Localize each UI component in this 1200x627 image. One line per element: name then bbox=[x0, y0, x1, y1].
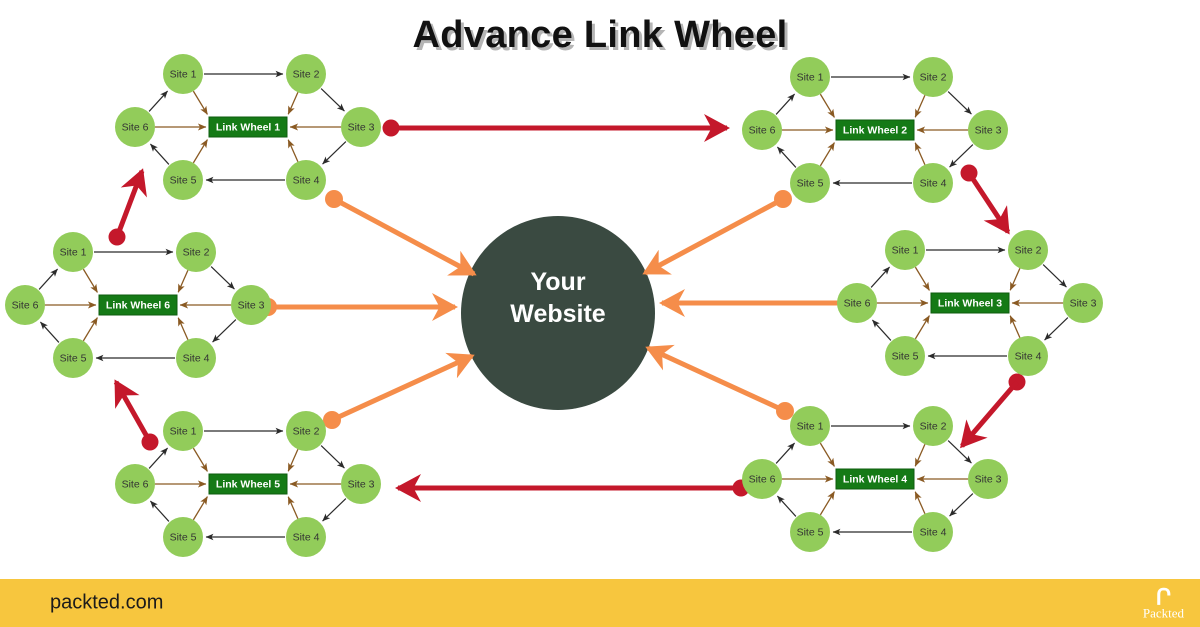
wheel-4-hub-box[interactable]: Link Wheel 4 bbox=[836, 469, 914, 489]
site-node-4[interactable]: Site 4 bbox=[913, 163, 953, 203]
spoke-edge bbox=[193, 497, 207, 520]
arrow-wheel3-to-wheel4 bbox=[962, 374, 1026, 447]
site-node-label: Site 1 bbox=[892, 245, 919, 257]
wheel-2-hub-box[interactable]: Link Wheel 2 bbox=[836, 120, 914, 140]
ring-edge bbox=[321, 446, 344, 468]
site-node-3[interactable]: Site 3 bbox=[1063, 283, 1103, 323]
spoke-edge bbox=[1010, 316, 1020, 338]
hub-box-label: Link Wheel 1 bbox=[216, 122, 280, 134]
site-node-label: Site 1 bbox=[797, 421, 824, 433]
arrow-wheel3-to-center bbox=[662, 294, 858, 312]
site-node-label: Site 4 bbox=[1015, 351, 1042, 363]
site-node-5[interactable]: Site 5 bbox=[885, 336, 925, 376]
site-node-6[interactable]: Site 6 bbox=[5, 285, 45, 325]
site-node-label: Site 2 bbox=[183, 247, 210, 259]
site-node-label: Site 5 bbox=[797, 178, 824, 190]
site-node-4[interactable]: Site 4 bbox=[913, 512, 953, 552]
spoke-edge bbox=[193, 448, 207, 471]
spoke-edge bbox=[193, 91, 207, 114]
site-node-label: Site 4 bbox=[920, 178, 947, 190]
site-node-6[interactable]: Site 6 bbox=[742, 459, 782, 499]
ring-edge bbox=[40, 322, 58, 342]
wheel-3-hub-box[interactable]: Link Wheel 3 bbox=[931, 293, 1009, 313]
ring-edge bbox=[872, 320, 890, 340]
site-node-label: Site 5 bbox=[170, 175, 197, 187]
hub-box-label: Link Wheel 2 bbox=[843, 125, 907, 137]
ring-edge bbox=[213, 320, 236, 342]
spoke-edge bbox=[193, 140, 207, 163]
site-node-label: Site 6 bbox=[12, 300, 39, 312]
arrow-wheel4-to-center bbox=[648, 348, 794, 420]
ring-edge bbox=[211, 267, 234, 289]
site-node-label: Site 6 bbox=[749, 474, 776, 486]
wheel-1[interactable]: Site 1Site 2Site 3Site 4Site 5Site 6Link… bbox=[115, 54, 381, 200]
site-node-label: Site 4 bbox=[293, 532, 320, 544]
site-node-2[interactable]: Site 2 bbox=[913, 57, 953, 97]
spoke-edge bbox=[83, 318, 97, 341]
site-node-4[interactable]: Site 4 bbox=[176, 338, 216, 378]
hub-box-label: Link Wheel 3 bbox=[938, 298, 1002, 310]
spoke-edge bbox=[915, 316, 929, 339]
site-node-2[interactable]: Site 2 bbox=[176, 232, 216, 272]
site-node-label: Site 1 bbox=[797, 72, 824, 84]
site-node-label: Site 3 bbox=[348, 122, 375, 134]
wheel-6-hub-box[interactable]: Link Wheel 6 bbox=[99, 295, 177, 315]
site-node-3[interactable]: Site 3 bbox=[341, 464, 381, 504]
site-node-label: Site 2 bbox=[293, 426, 320, 438]
wheel-6[interactable]: Site 1Site 2Site 3Site 4Site 5Site 6Link… bbox=[5, 232, 271, 378]
site-node-2[interactable]: Site 2 bbox=[1008, 230, 1048, 270]
arrow-wheel4-to-wheel5 bbox=[398, 480, 750, 497]
hub-box-label: Link Wheel 4 bbox=[843, 474, 907, 486]
spoke-edge bbox=[915, 143, 925, 165]
ring-edge bbox=[948, 92, 971, 114]
site-node-label: Site 2 bbox=[1015, 245, 1042, 257]
arrow-wheel1-to-wheel2 bbox=[383, 120, 728, 137]
site-node-label: Site 3 bbox=[348, 479, 375, 491]
footer-bar: packted.com Ր Packted bbox=[0, 579, 1200, 627]
hub-box-label: Link Wheel 6 bbox=[106, 300, 170, 312]
arrow-wheel2-to-center bbox=[645, 190, 792, 273]
spoke-edge bbox=[288, 497, 298, 519]
ring-edge bbox=[776, 94, 794, 114]
spoke-edge bbox=[288, 92, 298, 114]
ring-edge bbox=[950, 494, 973, 516]
diagram-canvas: Advance Link Wheel Your Website bbox=[0, 0, 1200, 627]
spoke-edge bbox=[1010, 268, 1020, 290]
ring-edge bbox=[323, 142, 346, 164]
site-node-2[interactable]: Site 2 bbox=[286, 54, 326, 94]
site-node-label: Site 2 bbox=[920, 72, 947, 84]
site-node-label: Site 1 bbox=[60, 247, 87, 259]
arrow-wheel1-to-center bbox=[325, 190, 474, 274]
site-node-label: Site 3 bbox=[975, 474, 1002, 486]
site-node-label: Site 4 bbox=[183, 353, 210, 365]
site-node-6[interactable]: Site 6 bbox=[742, 110, 782, 150]
ring-edge bbox=[777, 147, 795, 167]
spoke-edge bbox=[178, 270, 188, 292]
ring-edge bbox=[150, 501, 168, 521]
site-node-1[interactable]: Site 1 bbox=[790, 57, 830, 97]
site-node-label: Site 3 bbox=[238, 300, 265, 312]
ring-edge bbox=[948, 441, 971, 463]
spoke-edge bbox=[820, 143, 834, 166]
site-node-4[interactable]: Site 4 bbox=[286, 160, 326, 200]
site-node-1[interactable]: Site 1 bbox=[885, 230, 925, 270]
spoke-edge bbox=[178, 318, 188, 340]
ring-edge bbox=[950, 145, 973, 167]
footer-site-url[interactable]: packted.com bbox=[50, 592, 163, 615]
arrow-wheel2-to-wheel3 bbox=[961, 165, 1009, 233]
site-node-1[interactable]: Site 1 bbox=[790, 406, 830, 446]
site-node-3[interactable]: Site 3 bbox=[341, 107, 381, 147]
site-node-label: Site 1 bbox=[170, 69, 197, 81]
site-node-label: Site 6 bbox=[844, 298, 871, 310]
site-node-6[interactable]: Site 6 bbox=[115, 464, 155, 504]
arrow-wheel6-to-wheel1 bbox=[109, 171, 143, 246]
site-node-1[interactable]: Site 1 bbox=[163, 54, 203, 94]
site-node-3[interactable]: Site 3 bbox=[231, 285, 271, 325]
wheel-1-hub-box[interactable]: Link Wheel 1 bbox=[209, 117, 287, 137]
ring-edge bbox=[323, 499, 346, 521]
ring-edge bbox=[871, 267, 889, 287]
site-node-label: Site 4 bbox=[920, 527, 947, 539]
spoke-edge bbox=[288, 140, 298, 162]
site-node-1[interactable]: Site 1 bbox=[53, 232, 93, 272]
site-node-label: Site 2 bbox=[920, 421, 947, 433]
site-node-label: Site 6 bbox=[122, 122, 149, 134]
arrow-wheel6-to-center bbox=[259, 298, 455, 316]
center-label-line2: Website bbox=[510, 300, 605, 328]
ring-edge bbox=[150, 144, 168, 164]
site-node-5[interactable]: Site 5 bbox=[790, 163, 830, 203]
site-node-label: Site 6 bbox=[749, 125, 776, 137]
spoke-edge bbox=[288, 449, 298, 471]
hub-box-label: Link Wheel 5 bbox=[216, 479, 280, 491]
site-node-4[interactable]: Site 4 bbox=[286, 517, 326, 557]
site-node-5[interactable]: Site 5 bbox=[790, 512, 830, 552]
site-node-label: Site 5 bbox=[170, 532, 197, 544]
site-node-label: Site 5 bbox=[797, 527, 824, 539]
spoke-edge bbox=[915, 492, 925, 514]
spoke-edge bbox=[915, 95, 925, 117]
site-node-label: Site 5 bbox=[60, 353, 87, 365]
site-node-2[interactable]: Site 2 bbox=[286, 411, 326, 451]
site-node-label: Site 1 bbox=[170, 426, 197, 438]
site-node-1[interactable]: Site 1 bbox=[163, 411, 203, 451]
site-node-6[interactable]: Site 6 bbox=[837, 283, 877, 323]
site-node-label: Site 5 bbox=[892, 351, 919, 363]
site-node-2[interactable]: Site 2 bbox=[913, 406, 953, 446]
site-node-label: Site 3 bbox=[1070, 298, 1097, 310]
site-node-label: Site 6 bbox=[122, 479, 149, 491]
site-node-label: Site 4 bbox=[293, 175, 320, 187]
wheel-4[interactable]: Site 1Site 2Site 3Site 4Site 5Site 6Link… bbox=[742, 406, 1008, 552]
spoke-edge bbox=[820, 94, 834, 117]
site-node-label: Site 2 bbox=[293, 69, 320, 81]
site-node-4[interactable]: Site 4 bbox=[1008, 336, 1048, 376]
arrow-wheel5-to-center bbox=[323, 356, 472, 429]
ring-edge bbox=[149, 448, 167, 468]
ring-edge bbox=[39, 269, 57, 289]
site-node-6[interactable]: Site 6 bbox=[115, 107, 155, 147]
spoke-edge bbox=[915, 444, 925, 466]
ring-edge bbox=[149, 91, 167, 111]
wheel-5-hub-box[interactable]: Link Wheel 5 bbox=[209, 474, 287, 494]
ring-edge bbox=[777, 496, 795, 516]
packted-logo: Ր Packted bbox=[1143, 587, 1184, 620]
arrow-wheel5-to-wheel6 bbox=[116, 382, 159, 451]
site-node-5[interactable]: Site 5 bbox=[163, 160, 203, 200]
ring-edge bbox=[1043, 265, 1066, 287]
spoke-edge bbox=[83, 269, 97, 292]
spoke-edge bbox=[915, 267, 929, 290]
packted-brand-name: Packted bbox=[1143, 607, 1184, 620]
site-node-3[interactable]: Site 3 bbox=[968, 110, 1008, 150]
site-node-label: Site 3 bbox=[975, 125, 1002, 137]
wheel-3[interactable]: Site 1Site 2Site 3Site 4Site 5Site 6Link… bbox=[837, 230, 1103, 376]
center-label-line1: Your bbox=[530, 268, 585, 296]
ring-edge bbox=[1045, 318, 1068, 340]
ring-edge bbox=[321, 89, 344, 111]
site-node-5[interactable]: Site 5 bbox=[163, 517, 203, 557]
spoke-edge bbox=[820, 492, 834, 515]
site-node-3[interactable]: Site 3 bbox=[968, 459, 1008, 499]
site-node-5[interactable]: Site 5 bbox=[53, 338, 93, 378]
link-wheel-diagram: Your Website bbox=[0, 0, 1200, 627]
wheel-5[interactable]: Site 1Site 2Site 3Site 4Site 5Site 6Link… bbox=[115, 411, 381, 557]
ring-edge bbox=[776, 443, 794, 463]
your-website-hub[interactable]: Your Website bbox=[461, 216, 655, 410]
spoke-edge bbox=[820, 443, 834, 466]
